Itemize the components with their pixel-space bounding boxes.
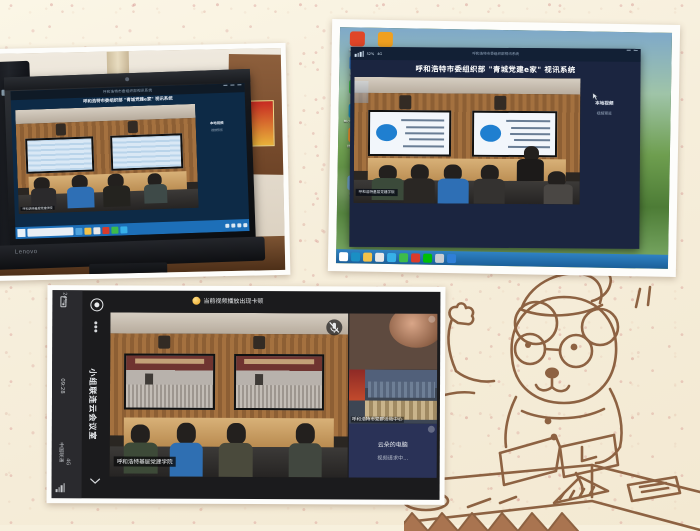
app-icon[interactable]	[349, 31, 364, 46]
laptop-screen[interactable]: 呼和浩特市委组织部视讯系统 呼和浩特市委组织部 "青城党建e家" 视讯系统	[10, 83, 249, 239]
projection-screen-right	[471, 110, 557, 157]
local-video-subtitle: 视频预览	[194, 127, 240, 133]
projection-screen-left	[25, 137, 95, 175]
slide-content-right	[112, 136, 181, 170]
attendee-body-4	[473, 179, 505, 204]
participant-status: 视频请求中...	[349, 455, 437, 462]
slide-line	[405, 132, 445, 134]
attendee-head-4	[295, 423, 314, 444]
local-video-panel: 本地视频 视频预览	[194, 119, 240, 133]
windows-taskbar[interactable]	[15, 219, 249, 239]
slide-logo-left	[376, 124, 397, 141]
slide-figure	[145, 373, 153, 384]
system-tray[interactable]	[225, 223, 247, 228]
slide-line	[403, 145, 444, 147]
microphone-muted-icon	[326, 319, 342, 335]
meeting-room-scene	[15, 104, 199, 214]
photo-phone-screenshot[interactable]: 24% 09:28 中国联通 4G 小组联连云会议室 当前视频播放出现卡顿	[47, 285, 446, 505]
ceiling-light-right	[253, 336, 265, 349]
participant-tile-label: 呼和浩特市党群活动中心	[351, 416, 404, 422]
slide-line	[402, 119, 445, 121]
slide-line	[511, 127, 550, 129]
participant-tile-remote-room[interactable]: 呼和浩特市党群活动中心	[349, 369, 437, 423]
red-flag	[349, 369, 365, 400]
attendee-body-3	[219, 442, 252, 477]
participant-tile-pending[interactable]: 云朵的电脑 视频请求中...	[349, 423, 437, 477]
network-type-label: 4G	[65, 458, 71, 465]
ceiling	[110, 312, 348, 336]
monitor-stand	[89, 262, 167, 276]
video-conference-window[interactable]: 52% 4G 呼和浩特市委组织部视讯系统 呼和浩特市委组织部 "青城党建e家" …	[349, 47, 640, 249]
phone-screenshot-image: 24% 09:28 中国联通 4G 小组联连云会议室 当前视频播放出现卡顿	[52, 290, 441, 500]
attendee-head-1	[131, 424, 150, 444]
desktop-screenshot-image: 火山小视频 360安全浏览器 腾讯会议 WPS Office 微信 QQ Mic…	[336, 27, 672, 269]
attendee-body-4	[288, 443, 321, 478]
app-icon[interactable]	[377, 32, 392, 47]
camera-icon[interactable]	[435, 253, 444, 262]
attendee-body-2	[403, 178, 435, 203]
window-titlebar: 52% 4G 呼和浩特市委组织部视讯系统	[351, 47, 641, 62]
main-video-label: 呼和浩特基层党建学院	[114, 456, 176, 466]
window-title: 呼和浩特市委组织部视讯系统	[351, 51, 641, 58]
video-feed-label: 呼和浩特基层党建学院	[356, 189, 398, 196]
projection-screen-left	[367, 110, 451, 157]
slide-content-left	[27, 139, 92, 173]
participant-tile-strip[interactable]: 呼和浩特市党群活动中心 云朵的电脑 视频请求中...	[349, 313, 438, 477]
presenter-body	[516, 159, 543, 182]
ime-icon[interactable]	[237, 223, 241, 227]
projection-screen-left	[124, 353, 215, 409]
ceiling-light-left	[55, 123, 65, 135]
participant-tile-speaker[interactable]	[349, 313, 437, 369]
volume-icon[interactable]	[231, 224, 235, 228]
video-window-title: 呼和浩特市委组织部视讯系统	[103, 88, 152, 95]
tile-badge-icon	[428, 316, 435, 323]
slide-headline	[245, 359, 314, 364]
ceiling-light-left	[158, 336, 170, 349]
slide-logo-right	[480, 124, 501, 141]
attendee-head-2	[176, 423, 195, 444]
qq-icon[interactable]	[120, 226, 127, 233]
attendee-head-3	[226, 423, 245, 444]
window-controls[interactable]	[627, 50, 638, 51]
player-icon[interactable]	[423, 253, 432, 262]
start-icon[interactable]	[339, 252, 348, 261]
attendee-body-3	[437, 178, 469, 203]
mute-indicator[interactable]	[326, 319, 342, 335]
meeting-room-scene	[354, 77, 581, 205]
local-video-panel: 本地视频 视频预览	[574, 100, 634, 116]
slide-left	[369, 112, 449, 155]
attendee-body-5	[543, 184, 573, 204]
laptop-lid: 呼和浩特市委组织部视讯系统 呼和浩特市委组织部 "青城党建e家" 视讯系统	[4, 69, 256, 249]
folder-icon[interactable]	[84, 227, 91, 234]
window-glare-artifact	[354, 81, 368, 103]
clock-label: 09:28	[59, 378, 65, 394]
remote-video-feed[interactable]: 呼和浩特基层党建学院	[15, 104, 199, 214]
remote-video-feed[interactable]	[354, 77, 581, 205]
signal-strength-icon	[56, 483, 65, 492]
laptop-brand-label: Lenovo	[15, 249, 38, 255]
slide-line	[515, 139, 551, 141]
photo-desktop-screenshot[interactable]: 火山小视频 360安全浏览器 腾讯会议 WPS Office 微信 QQ Mic…	[328, 19, 680, 277]
clock-icon[interactable]	[243, 223, 247, 227]
ceiling-light-left	[399, 95, 411, 109]
edge-icon[interactable]	[75, 227, 82, 234]
start-button-icon[interactable]	[17, 229, 25, 237]
minimize-icon[interactable]	[627, 50, 631, 51]
ceiling-light-right	[127, 120, 137, 132]
slide-line	[510, 133, 551, 135]
wechat-icon[interactable]	[111, 226, 118, 233]
record-button[interactable]	[90, 298, 103, 311]
attendee-body-4	[144, 184, 168, 204]
conference-overlay-title: 呼和浩特市委组织部 "青城党建e家" 视讯系统	[351, 63, 641, 76]
slide-line	[506, 119, 550, 121]
wps-icon[interactable]	[411, 253, 420, 262]
wps-icon[interactable]	[102, 226, 109, 233]
slide-right	[473, 112, 555, 155]
close-icon[interactable]	[237, 84, 241, 85]
attendee-body-2	[66, 186, 94, 208]
edge-icon[interactable]	[351, 252, 360, 261]
warning-icon	[192, 296, 200, 304]
playback-warning-toast: 当前视频播放出现卡顿	[192, 296, 263, 305]
chrome-icon[interactable]	[375, 252, 384, 261]
app-title: 小组联连云会议室	[87, 368, 98, 440]
restore-icon[interactable]	[634, 50, 638, 51]
participant-name: 云朵的电脑	[349, 440, 437, 449]
projection-screen-right	[110, 133, 183, 171]
network-icon[interactable]	[225, 224, 229, 228]
maximize-icon[interactable]	[230, 84, 234, 85]
local-video-subtitle: 视频预览	[574, 110, 634, 116]
more-options-button[interactable]	[94, 320, 98, 334]
chrome-icon[interactable]	[93, 227, 100, 234]
tile-badge-icon	[428, 426, 435, 433]
mail-icon[interactable]	[447, 254, 456, 263]
battery-percent-label: 24%	[61, 292, 67, 303]
collapse-chevron-icon[interactable]	[90, 477, 101, 484]
folder-icon[interactable]	[363, 252, 372, 261]
minimize-icon[interactable]	[223, 85, 227, 86]
phone-status-rail: 24% 09:28 中国联通 4G	[52, 290, 83, 498]
main-video-feed[interactable]	[110, 312, 349, 477]
slide-crowd	[126, 384, 213, 407]
mouse-cursor-icon	[592, 93, 598, 101]
projection-screen-right	[234, 354, 325, 410]
slide-figure	[255, 374, 263, 385]
photo-laptop-desk[interactable]: 呼和浩特市委组织部视讯系统 呼和浩特市委组织部 "青城党建e家" 视讯系统	[0, 43, 290, 281]
taskbar-search-input[interactable]	[27, 227, 73, 237]
attendee-body-1	[31, 188, 57, 208]
cartoon-bear-student-at-desk-doodle	[404, 261, 700, 531]
ceiling-light-right	[494, 95, 506, 109]
slide-headline	[135, 359, 204, 364]
playback-warning-text: 当前视频播放出现卡顿	[203, 296, 263, 305]
slide-line	[406, 126, 444, 128]
qq-icon[interactable]	[387, 252, 396, 261]
photo-laptop-desk-image: 呼和浩特市委组织部视讯系统 呼和浩特市委组织部 "青城党建e家" 视讯系统	[0, 48, 285, 276]
audience-rows-back	[368, 381, 435, 398]
slide-line	[409, 138, 444, 140]
window-controls[interactable]	[223, 84, 241, 86]
slide-crowd	[236, 385, 323, 408]
wechat-icon[interactable]	[399, 253, 408, 262]
slide-broadcast-left	[126, 355, 213, 407]
meeting-room-scene	[110, 312, 349, 477]
attendee-body-3	[102, 185, 130, 207]
local-video-title: 本地视频	[574, 100, 634, 106]
slide-broadcast-right	[236, 356, 323, 408]
local-video-title: 本地视频	[194, 119, 240, 126]
